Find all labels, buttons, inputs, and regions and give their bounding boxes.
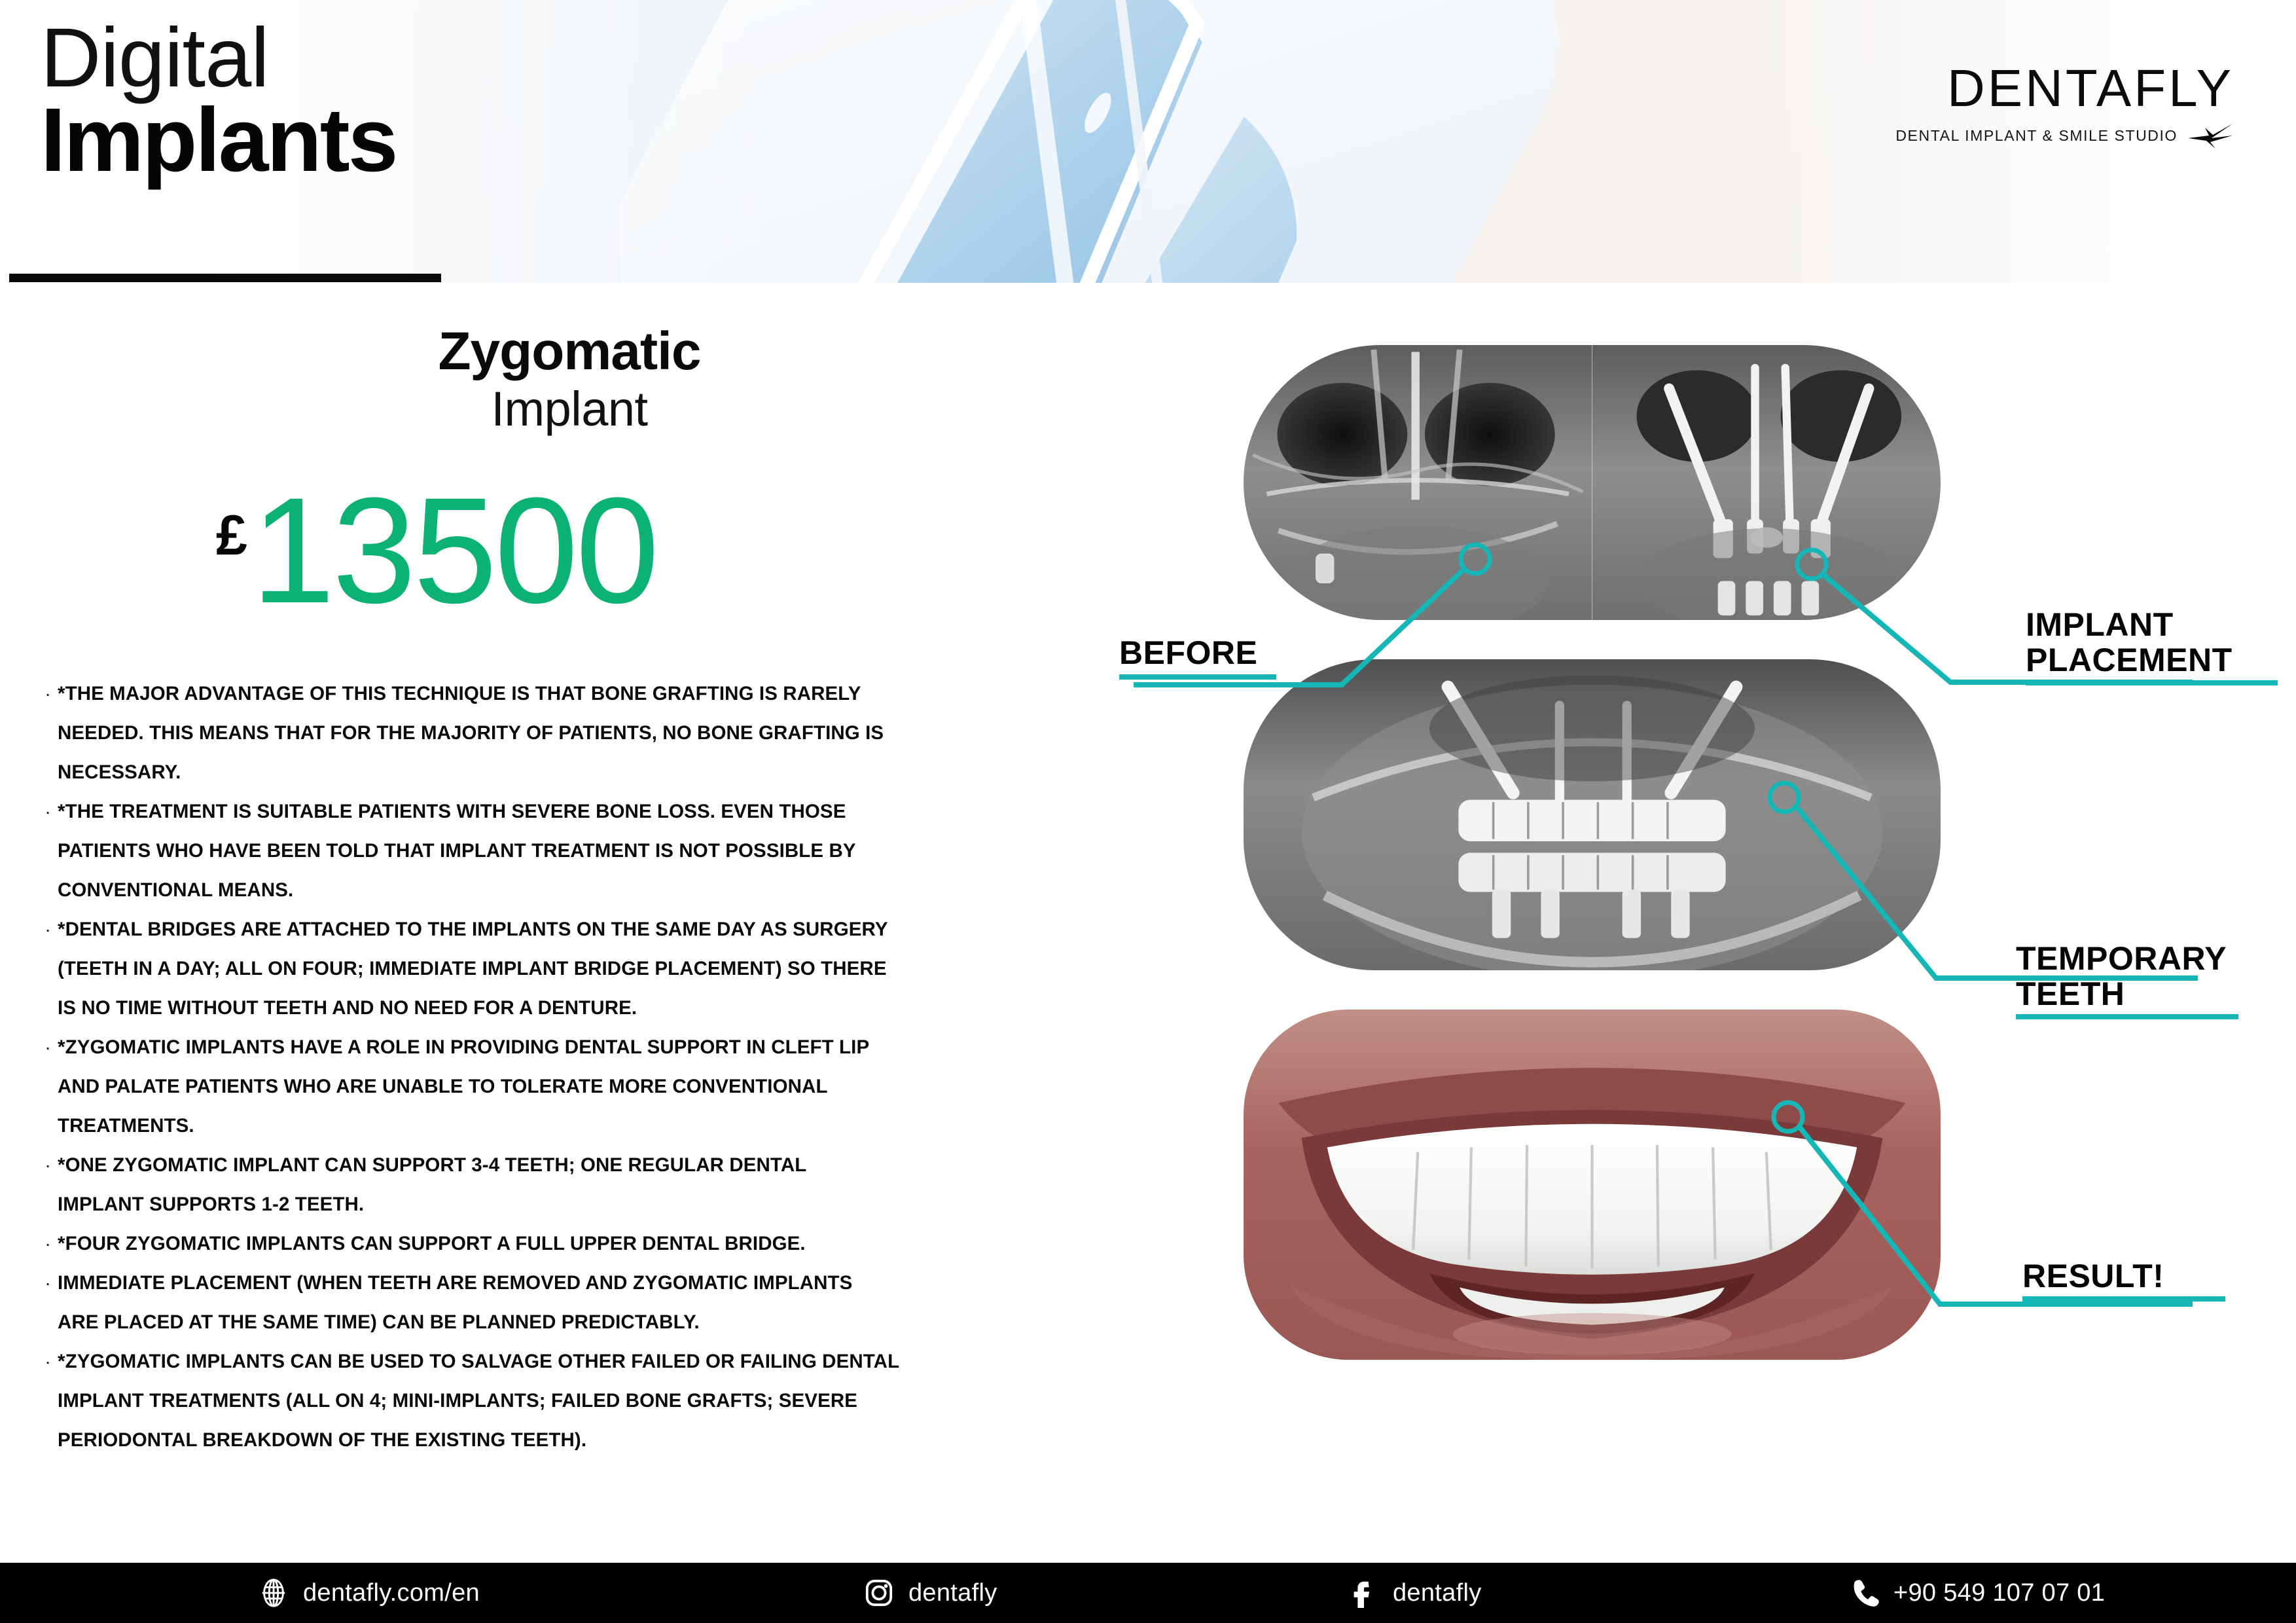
page-header: Digital Implants DENTAFLY DENTAL IMPLANT… xyxy=(0,0,2296,283)
instagram-icon xyxy=(864,1578,894,1608)
bullet-marker-icon xyxy=(38,872,58,908)
benefit-line-text: CONVENTIONAL MEANS. xyxy=(58,872,1020,908)
bullet-marker-icon: · xyxy=(38,911,58,947)
bullet-marker-icon: · xyxy=(38,1029,58,1065)
label-implant-placement-underline xyxy=(2026,680,2278,685)
label-temporary-teeth-line-2: TEETH xyxy=(2016,976,2238,1012)
benefit-line: (TEETH IN A DAY; ALL ON FOUR; IMMEDIATE … xyxy=(38,951,1020,987)
benefit-line: PATIENTS WHO HAVE BEEN TOLD THAT IMPLANT… xyxy=(38,833,1020,869)
leader-line-result xyxy=(1734,1088,2232,1350)
brand-logo: DENTAFLY DENTAL IMPLANT & SMILE STUDIO xyxy=(1895,62,2234,149)
footer-website-label: dentafly.com/en xyxy=(303,1579,480,1607)
benefit-line-text: *THE TREATMENT IS SUITABLE PATIENTS WITH… xyxy=(58,793,1020,830)
footer-phone[interactable]: +90 549 107 07 01 xyxy=(1849,1578,2105,1608)
benefit-line-text: *DENTAL BRIDGES ARE ATTACHED TO THE IMPL… xyxy=(58,911,1020,947)
gallery-column: BEFORE IMPLANT PLACEMENT TEMPORARY TEETH… xyxy=(1047,283,2296,1494)
benefit-line-text: NEEDED. THIS MEANS THAT FOR THE MAJORITY… xyxy=(58,715,1020,751)
label-result-underline xyxy=(2022,1296,2225,1302)
label-implant-placement-line-2: PLACEMENT xyxy=(2026,642,2278,678)
brand-logo-tagline: DENTAL IMPLANT & SMILE STUDIO xyxy=(1895,127,2178,145)
facebook-icon xyxy=(1348,1578,1378,1608)
benefit-line: CONVENTIONAL MEANS. xyxy=(38,872,1020,908)
bullet-marker-icon: · xyxy=(38,793,58,830)
benefit-line: IMPLANT SUPPORTS 1-2 TEETH. xyxy=(38,1186,1020,1222)
benefit-line: ·*ZYGOMATIC IMPLANTS CAN BE USED TO SALV… xyxy=(38,1343,1020,1379)
globe-icon xyxy=(259,1578,289,1608)
bullet-marker-icon: · xyxy=(38,1147,58,1183)
benefit-line-text: *THE MAJOR ADVANTAGE OF THIS TECHNIQUE I… xyxy=(58,676,1020,712)
bullet-marker-icon xyxy=(38,754,58,790)
bullet-marker-icon xyxy=(38,990,58,1026)
benefit-line-text: *ONE ZYGOMATIC IMPLANT CAN SUPPORT 3-4 T… xyxy=(58,1147,1020,1183)
bullet-marker-icon xyxy=(38,1304,58,1340)
bullet-marker-icon xyxy=(38,1108,58,1144)
benefit-line: ·*DENTAL BRIDGES ARE ATTACHED TO THE IMP… xyxy=(38,911,1020,947)
page-title: Digital Implants xyxy=(41,16,396,185)
bullet-marker-icon xyxy=(38,951,58,987)
benefit-line-text: IMPLANT TREATMENTS (ALL ON 4; MINI-IMPLA… xyxy=(58,1383,1020,1419)
label-result: RESULT! xyxy=(2022,1258,2225,1302)
label-implant-placement-line-1: IMPLANT xyxy=(2026,607,2278,642)
benefit-line: IMPLANT TREATMENTS (ALL ON 4; MINI-IMPLA… xyxy=(38,1383,1020,1419)
footer-facebook[interactable]: dentafly xyxy=(1348,1578,1482,1608)
brand-logo-wordmark: DENTAFLY xyxy=(1895,62,2234,115)
bullet-marker-icon xyxy=(38,715,58,751)
bullet-marker-icon: · xyxy=(38,1265,58,1301)
bullet-marker-icon xyxy=(38,833,58,869)
contact-footer: dentafly.com/en dentafly dentafly +90 54… xyxy=(0,1563,2296,1623)
benefit-line: ·*ZYGOMATIC IMPLANTS HAVE A ROLE IN PROV… xyxy=(38,1029,1020,1065)
price-block: £ 13500 xyxy=(216,483,656,618)
label-implant-placement: IMPLANT PLACEMENT xyxy=(2026,607,2278,685)
benefit-line: ·IMMEDIATE PLACEMENT (WHEN TEETH ARE REM… xyxy=(38,1265,1020,1301)
label-before-text: BEFORE xyxy=(1119,635,1276,670)
benefit-line: ·*FOUR ZYGOMATIC IMPLANTS CAN SUPPORT A … xyxy=(38,1226,1020,1262)
service-name: Zygomatic Implant xyxy=(340,323,798,437)
page-title-line-1: Digital xyxy=(41,16,396,101)
footer-instagram-label: dentafly xyxy=(908,1579,997,1607)
benefit-line: ·*ONE ZYGOMATIC IMPLANT CAN SUPPORT 3-4 … xyxy=(38,1147,1020,1183)
offer-column: Zygomatic Implant £ 13500 ·*THE MAJOR AD… xyxy=(0,283,1047,1494)
price-currency-symbol: £ xyxy=(216,507,247,564)
footer-website[interactable]: dentafly.com/en xyxy=(259,1578,480,1608)
bullet-marker-icon: · xyxy=(38,676,58,712)
benefit-line: ·*THE TREATMENT IS SUITABLE PATIENTS WIT… xyxy=(38,793,1020,830)
service-name-line-2: Implant xyxy=(340,382,798,437)
bullet-marker-icon xyxy=(38,1383,58,1419)
benefit-line-text: IMPLANT SUPPORTS 1-2 TEETH. xyxy=(58,1186,1020,1222)
bullet-marker-icon xyxy=(38,1422,58,1458)
benefit-line-text: *ZYGOMATIC IMPLANTS HAVE A ROLE IN PROVI… xyxy=(58,1029,1020,1065)
benefit-line-text: IS NO TIME WITHOUT TEETH AND NO NEED FOR… xyxy=(58,990,1020,1026)
bullet-marker-icon xyxy=(38,1186,58,1222)
benefit-line-text: ARE PLACED AT THE SAME TIME) CAN BE PLAN… xyxy=(58,1304,1020,1340)
bullet-marker-icon: · xyxy=(38,1343,58,1379)
label-temporary-teeth-underline xyxy=(2016,1014,2238,1019)
benefit-line: ARE PLACED AT THE SAME TIME) CAN BE PLAN… xyxy=(38,1304,1020,1340)
benefit-line: TREATMENTS. xyxy=(38,1108,1020,1144)
page-title-line-2: Implants xyxy=(41,95,396,185)
benefit-line: NEEDED. THIS MEANS THAT FOR THE MAJORITY… xyxy=(38,715,1020,751)
benefit-line-text: *FOUR ZYGOMATIC IMPLANTS CAN SUPPORT A F… xyxy=(58,1226,1020,1262)
benefit-line-text: AND PALATE PATIENTS WHO ARE UNABLE TO TO… xyxy=(58,1068,1020,1104)
benefit-line-text: TREATMENTS. xyxy=(58,1108,1020,1144)
label-result-text: RESULT! xyxy=(2022,1258,2225,1294)
benefit-line-text: *ZYGOMATIC IMPLANTS CAN BE USED TO SALVA… xyxy=(58,1343,1020,1379)
benefit-line: ·*THE MAJOR ADVANTAGE OF THIS TECHNIQUE … xyxy=(38,676,1020,712)
price-value: 13500 xyxy=(251,483,657,618)
benefit-line-text: (TEETH IN A DAY; ALL ON FOUR; IMMEDIATE … xyxy=(58,951,1020,987)
label-before: BEFORE xyxy=(1119,635,1276,680)
label-temporary-teeth-line-1: TEMPORARY xyxy=(2016,941,2238,976)
bullet-marker-icon: · xyxy=(38,1226,58,1262)
footer-facebook-label: dentafly xyxy=(1393,1579,1482,1607)
benefit-line: IS NO TIME WITHOUT TEETH AND NO NEED FOR… xyxy=(38,990,1020,1026)
footer-instagram[interactable]: dentafly xyxy=(864,1578,997,1608)
phone-icon xyxy=(1849,1578,1879,1608)
footer-phone-label: +90 549 107 07 01 xyxy=(1893,1579,2105,1607)
label-temporary-teeth: TEMPORARY TEETH xyxy=(2016,941,2238,1019)
airplane-icon xyxy=(2187,122,2234,149)
service-name-line-1: Zygomatic xyxy=(340,323,798,380)
benefit-line: PERIODONTAL BREAKDOWN OF THE EXISTING TE… xyxy=(38,1422,1020,1458)
label-before-underline xyxy=(1119,674,1276,680)
benefit-line: AND PALATE PATIENTS WHO ARE UNABLE TO TO… xyxy=(38,1068,1020,1104)
title-divider-rule xyxy=(9,274,441,282)
benefit-line-text: IMMEDIATE PLACEMENT (WHEN TEETH ARE REMO… xyxy=(58,1265,1020,1301)
benefits-list: ·*THE MAJOR ADVANTAGE OF THIS TECHNIQUE … xyxy=(38,676,1020,1461)
benefit-line-text: PATIENTS WHO HAVE BEEN TOLD THAT IMPLANT… xyxy=(58,833,1020,869)
benefit-line-text: PERIODONTAL BREAKDOWN OF THE EXISTING TE… xyxy=(58,1422,1020,1458)
benefit-line: NECESSARY. xyxy=(38,754,1020,790)
bullet-marker-icon xyxy=(38,1068,58,1104)
benefit-line-text: NECESSARY. xyxy=(58,754,1020,790)
